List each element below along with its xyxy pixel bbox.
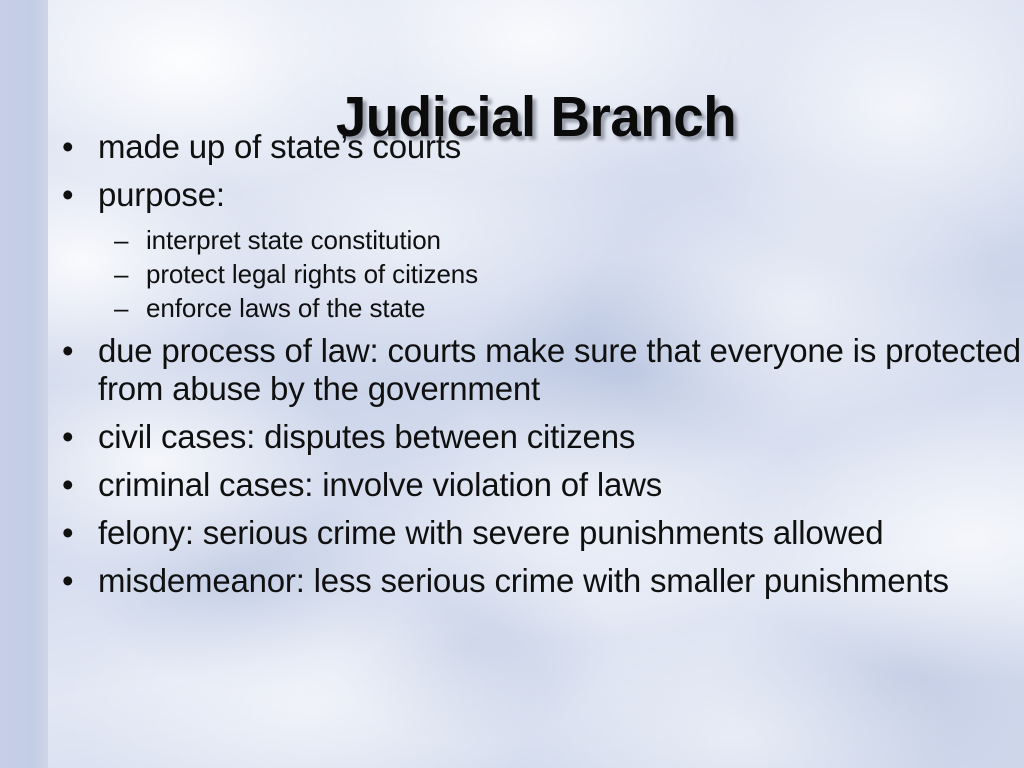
sub-bullet-text: interpret state constitution: [146, 224, 1024, 256]
bullet-dot-icon: •: [62, 418, 73, 456]
bullet-item: • made up of state’s courts: [60, 128, 1024, 166]
bullet-list: • made up of state’s courts • purpose: –…: [60, 128, 1024, 610]
bullet-dash-icon: –: [114, 258, 128, 290]
bullet-dot-icon: •: [62, 332, 73, 370]
bullet-dash-icon: –: [114, 224, 128, 256]
bullet-text: criminal cases: involve violation of law…: [98, 466, 1024, 504]
left-accent-band: [0, 0, 48, 768]
bullet-dot-icon: •: [62, 466, 73, 504]
bullet-text: civil cases: disputes between citizens: [98, 418, 1024, 456]
bullet-text: purpose:: [98, 176, 1024, 214]
sub-bullet-item: – enforce laws of the state: [60, 292, 1024, 324]
bullet-dot-icon: •: [62, 176, 73, 214]
bullet-item: • civil cases: disputes between citizens: [60, 418, 1024, 456]
sub-bullet-text: enforce laws of the state: [146, 292, 1024, 324]
bullet-item: • felony: serious crime with severe puni…: [60, 514, 1024, 552]
bullet-item: • criminal cases: involve violation of l…: [60, 466, 1024, 504]
sub-bullet-item: – interpret state constitution: [60, 224, 1024, 256]
bullet-dot-icon: •: [62, 514, 73, 552]
bullet-item: • due process of law: courts make sure t…: [60, 332, 1024, 408]
sub-bullet-group: – interpret state constitution – protect…: [60, 224, 1024, 324]
slide-canvas: Judicial Branch • made up of state’s cou…: [0, 0, 1024, 768]
bullet-item: • misdemeanor: less serious crime with s…: [60, 562, 1024, 600]
bullet-dot-icon: •: [62, 562, 73, 600]
bullet-text: misdemeanor: less serious crime with sma…: [98, 562, 1024, 600]
bullet-dash-icon: –: [114, 292, 128, 324]
bullet-text: felony: serious crime with severe punish…: [98, 514, 1024, 552]
bullet-dot-icon: •: [62, 128, 73, 166]
bullet-text: made up of state’s courts: [98, 128, 1024, 166]
sub-bullet-item: – protect legal rights of citizens: [60, 258, 1024, 290]
sub-bullet-text: protect legal rights of citizens: [146, 258, 1024, 290]
bullet-item: • purpose:: [60, 176, 1024, 214]
bullet-text: due process of law: courts make sure tha…: [98, 332, 1024, 408]
